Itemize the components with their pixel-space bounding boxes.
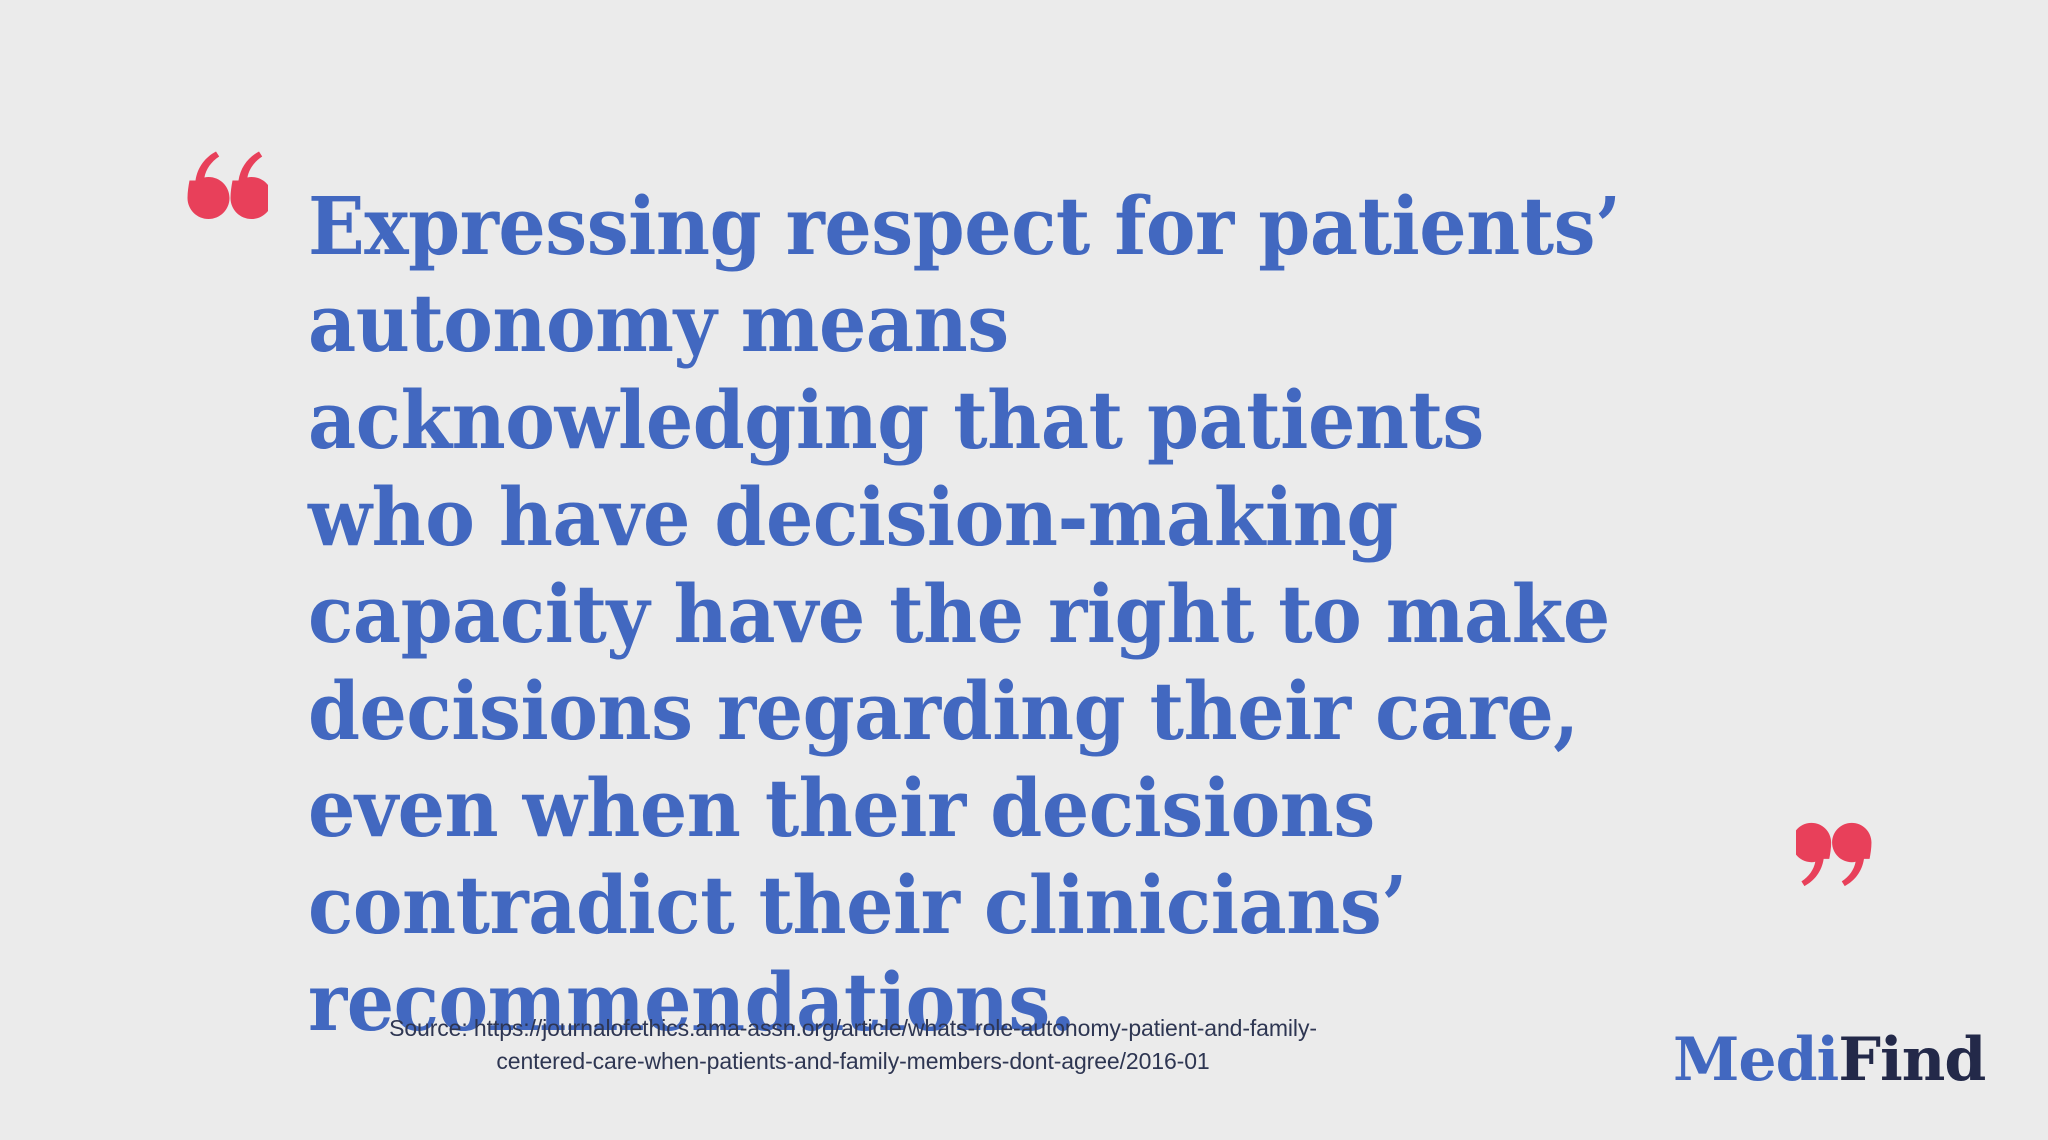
quote-card: Expressing respect for patients’ autonom… <box>0 0 2048 1140</box>
medifind-logo: MediFind <box>1673 1028 1985 1092</box>
logo-text-medi: Medi <box>1673 1025 1838 1095</box>
logo-text-find: Find <box>1838 1025 1985 1095</box>
close-quote-icon <box>1796 812 1886 888</box>
open-quote-icon <box>172 150 268 230</box>
source-line-1: Source: https://journalofethics.ama-assn… <box>258 1012 1448 1045</box>
source-line-2: centered-care-when-patients-and-family-m… <box>258 1045 1448 1078</box>
source-attribution: Source: https://journalofethics.ama-assn… <box>258 1012 1448 1078</box>
pull-quote-text: Expressing respect for patients’ autonom… <box>308 178 1629 1051</box>
